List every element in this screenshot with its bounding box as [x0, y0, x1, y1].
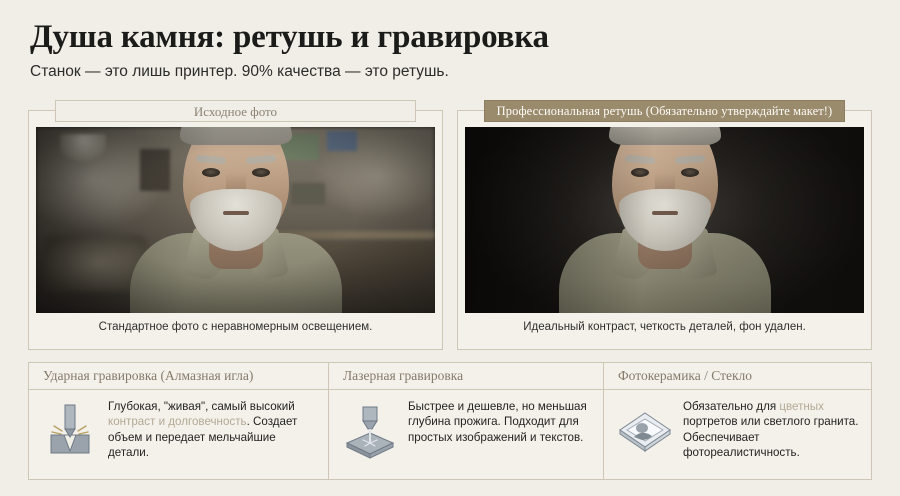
retouched-photo — [465, 127, 864, 313]
page-title: Душа камня: ретушь и гравировка — [30, 20, 870, 56]
panel-retouched-header: Профессиональная ретушь (Обязательно утв… — [484, 100, 845, 122]
page-subtitle: Станок — это лишь принтер. 90% качества … — [30, 63, 870, 82]
method-impact-engraving-text: Глубокая, "живая", самый высокий контрас… — [108, 399, 318, 461]
original-photo-caption: Стандартное фото с неравномерным освещен… — [36, 313, 435, 341]
method-laser-engraving-title: Лазерная гравировка — [329, 363, 603, 390]
method-impact-engraving: Ударная гравировка (Алмазная игла) — [29, 363, 329, 479]
method-1-text-highlight: контраст и долговечность — [108, 415, 247, 428]
comparison-section: Исходное фото — [28, 110, 872, 350]
method-2-text-pre: Быстрее и дешевле, но меньшая глубина пр… — [408, 400, 587, 444]
laser-head-icon — [341, 399, 399, 459]
method-photoceramic: Фотокерамика / Стекло Обязательно для цв… — [604, 363, 871, 479]
method-laser-engraving: Лазерная гравировка — [329, 363, 604, 479]
slide-root: Душа камня: ретушь и гравировка Станок —… — [0, 0, 900, 496]
ceramic-plate-icon — [616, 399, 674, 459]
method-photoceramic-text: Обязательно для цветных портретов или св… — [683, 399, 861, 461]
method-impact-engraving-title: Ударная гравировка (Алмазная игла) — [29, 363, 328, 390]
panel-original: Исходное фото — [28, 110, 443, 350]
method-laser-engraving-text: Быстрее и дешевле, но меньшая глубина пр… — [408, 399, 593, 445]
panel-original-header: Исходное фото — [55, 100, 416, 122]
methods-section: Ударная гравировка (Алмазная игла) — [28, 362, 872, 480]
original-photo — [36, 127, 435, 313]
retouched-photo-caption: Идеальный контраст, четкость деталей, фо… — [465, 313, 864, 341]
method-3-text-pre: Обязательно для — [683, 400, 779, 413]
slide-header: Душа камня: ретушь и гравировка Станок —… — [0, 0, 900, 81]
method-photoceramic-title: Фотокерамика / Стекло — [604, 363, 871, 390]
method-3-text-post: портретов или светлого гранита. Обеспечи… — [683, 415, 858, 459]
method-1-text-pre: Глубокая, "живая", самый высокий — [108, 400, 295, 413]
panel-retouched: Профессиональная ретушь (Обязательно утв… — [457, 110, 872, 350]
diamond-needle-icon — [41, 399, 99, 459]
method-3-text-highlight: цветных — [779, 400, 824, 413]
